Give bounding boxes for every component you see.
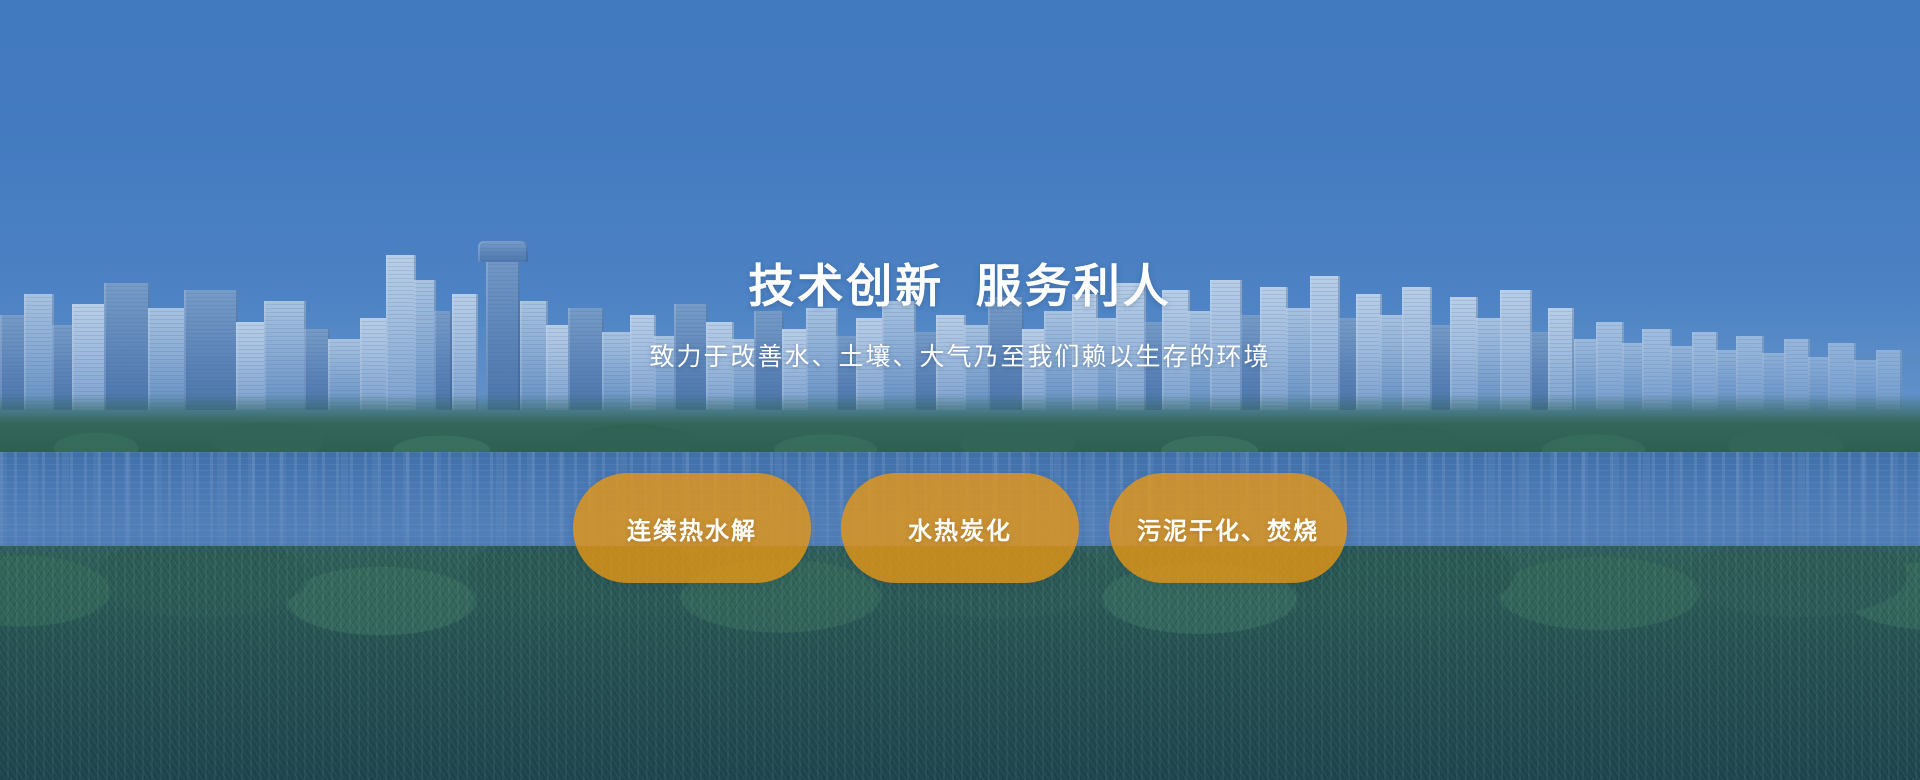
service-pill-continuous-thermal-hydrolysis[interactable]: 连续热水解 bbox=[573, 473, 811, 583]
hero-banner: 技术创新 服务利人 致力于改善水、土壤、大气乃至我们赖以生存的环境 连续热水解 … bbox=[0, 0, 1920, 780]
service-pill-label: 连续热水解 bbox=[627, 511, 757, 546]
hero-headline: 技术创新 服务利人 bbox=[0, 263, 1920, 309]
hero-subheadline: 致力于改善水、土壤、大气乃至我们赖以生存的环境 bbox=[0, 345, 1920, 370]
service-pill-hydrothermal-carbonization[interactable]: 水热炭化 bbox=[841, 473, 1079, 583]
service-pill-sludge-drying-incineration[interactable]: 污泥干化、焚烧 bbox=[1109, 473, 1347, 583]
hero-content: 技术创新 服务利人 致力于改善水、土壤、大气乃至我们赖以生存的环境 连续热水解 … bbox=[0, 0, 1920, 780]
service-pill-row: 连续热水解 水热炭化 污泥干化、焚烧 bbox=[0, 473, 1920, 583]
service-pill-label: 水热炭化 bbox=[908, 511, 1012, 546]
service-pill-label: 污泥干化、焚烧 bbox=[1137, 511, 1319, 546]
